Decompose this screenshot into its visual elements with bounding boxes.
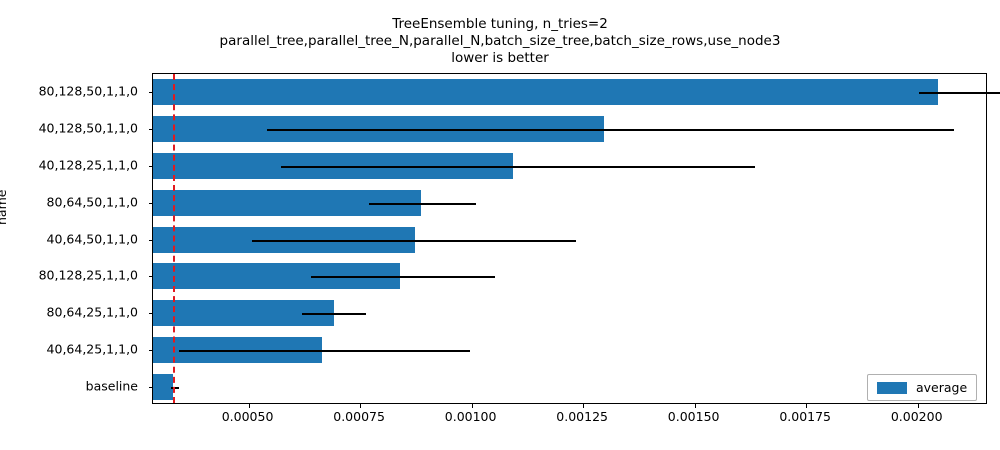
x-tick-label: 0.00100 <box>445 409 497 424</box>
y-tick-label: 80,128,50,1,1,0 <box>39 84 138 99</box>
plot-area <box>152 73 987 404</box>
chart-title-line-3: lower is better <box>0 50 1000 67</box>
y-tick-mark <box>149 129 154 130</box>
x-tick-mark <box>583 403 584 408</box>
x-tick-mark <box>360 403 361 408</box>
error-bar <box>302 313 366 315</box>
error-bar <box>281 166 755 168</box>
x-axis-tick-labels: 0.000500.000750.001000.001250.001500.001… <box>152 409 987 429</box>
y-tick-mark <box>149 387 154 388</box>
x-tick-mark <box>918 403 919 408</box>
y-tick-label: 40,128,50,1,1,0 <box>39 121 138 136</box>
x-tick-mark <box>472 403 473 408</box>
chart-title-line-2: parallel_tree,parallel_tree_N,parallel_N… <box>0 33 1000 50</box>
y-tick-label: 40,64,50,1,1,0 <box>47 231 138 246</box>
error-bar <box>179 350 471 352</box>
y-axis-tick-labels: 80,128,50,1,1,040,128,50,1,1,040,128,25,… <box>0 73 146 404</box>
x-tick-label: 0.00150 <box>668 409 720 424</box>
legend-swatch-average <box>877 382 907 394</box>
bar <box>153 79 938 105</box>
y-tick-label: 80,64,25,1,1,0 <box>47 305 138 320</box>
chart-title-line-1: TreeEnsemble tuning, n_tries=2 <box>0 16 1000 33</box>
x-tick-label: 0.00200 <box>891 409 943 424</box>
y-tick-label: 80,128,25,1,1,0 <box>39 268 138 283</box>
error-bar <box>252 240 577 242</box>
y-tick-mark <box>149 276 154 277</box>
error-bar <box>267 129 954 131</box>
x-tick-label: 0.00175 <box>779 409 831 424</box>
matplotlib-figure: TreeEnsemble tuning, n_tries=2 parallel_… <box>0 0 1000 450</box>
x-tick-mark <box>695 403 696 408</box>
y-tick-mark <box>149 92 154 93</box>
y-tick-mark <box>149 203 154 204</box>
chart-title: TreeEnsemble tuning, n_tries=2 parallel_… <box>0 16 1000 67</box>
error-bar <box>311 276 495 278</box>
x-tick-mark <box>249 403 250 408</box>
x-tick-label: 0.00075 <box>333 409 385 424</box>
error-bar <box>369 203 476 205</box>
y-tick-mark <box>149 240 154 241</box>
y-tick-mark <box>149 313 154 314</box>
chart-legend[interactable]: average <box>867 374 977 401</box>
y-axis-label: name <box>0 190 9 225</box>
plot-content <box>153 74 986 403</box>
baseline-reference-line <box>173 74 175 403</box>
y-tick-mark <box>149 166 154 167</box>
y-tick-label: 80,64,50,1,1,0 <box>47 194 138 209</box>
x-tick-label: 0.00125 <box>556 409 608 424</box>
x-tick-mark <box>806 403 807 408</box>
y-tick-label: 40,64,25,1,1,0 <box>47 341 138 356</box>
y-tick-label: 40,128,25,1,1,0 <box>39 157 138 172</box>
x-tick-label: 0.00050 <box>222 409 274 424</box>
legend-label-average: average <box>916 380 967 395</box>
y-tick-mark <box>149 350 154 351</box>
y-tick-label: baseline <box>86 378 138 393</box>
error-bar <box>919 92 1000 94</box>
